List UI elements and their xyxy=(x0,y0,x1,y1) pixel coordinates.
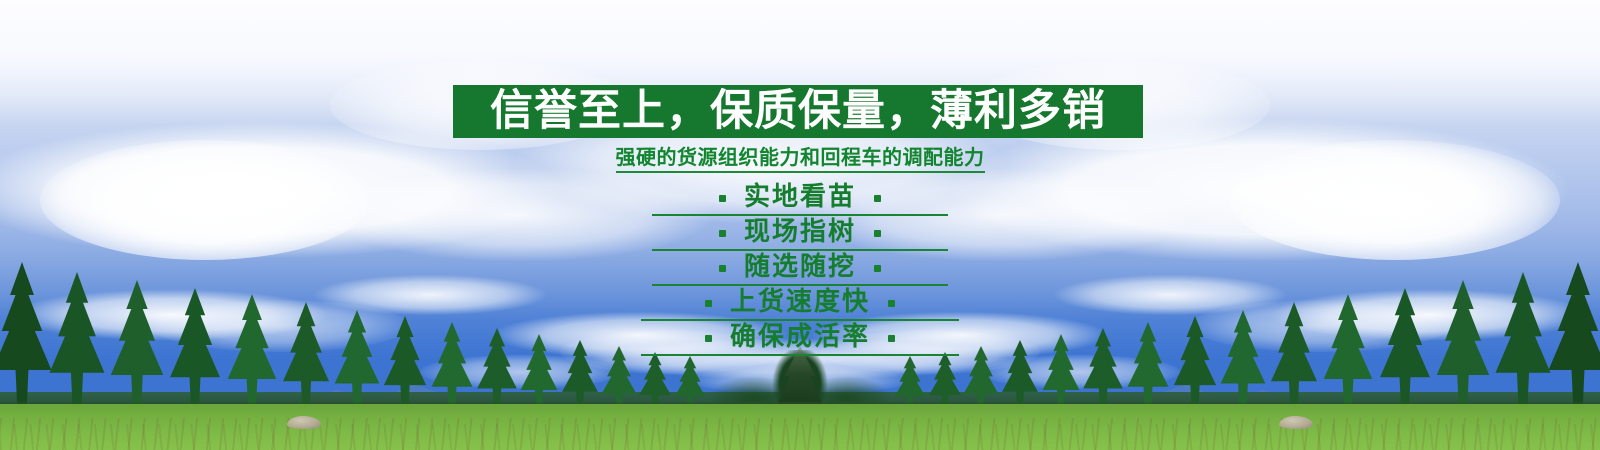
dot-bullet-icon xyxy=(705,335,712,342)
feature-label: 实地看苗 xyxy=(744,184,856,210)
feature-item: 确保成活率 xyxy=(0,321,1600,356)
feature-item: 实地看苗 xyxy=(0,181,1600,216)
dot-bullet-icon xyxy=(874,195,881,202)
banner-content: 信誉至上，保质保量，薄利多销 强硬的货源组织能力和回程车的调配能力 实地看苗 现… xyxy=(0,0,1600,450)
feature-label: 确保成活率 xyxy=(730,324,870,350)
headline-bar: 信誉至上，保质保量，薄利多销 xyxy=(453,85,1143,138)
feature-list: 实地看苗 现场指树 随选随挖 xyxy=(0,181,1600,356)
feature-label: 现场指树 xyxy=(744,219,856,245)
feature-label: 随选随挖 xyxy=(744,254,856,280)
dot-bullet-icon xyxy=(888,300,895,307)
dot-bullet-icon xyxy=(705,300,712,307)
subheadline-text: 强硬的货源组织能力和回程车的调配能力 xyxy=(616,146,985,173)
feature-item: 随选随挖 xyxy=(0,251,1600,286)
dot-bullet-icon xyxy=(874,230,881,237)
promo-banner: 信誉至上，保质保量，薄利多销 强硬的货源组织能力和回程车的调配能力 实地看苗 现… xyxy=(0,0,1600,450)
dot-bullet-icon xyxy=(719,265,726,272)
headline-text: 信誉至上，保质保量，薄利多销 xyxy=(490,90,1106,133)
feature-item: 上货速度快 xyxy=(0,286,1600,321)
dot-bullet-icon xyxy=(888,335,895,342)
subheadline: 强硬的货源组织能力和回程车的调配能力 xyxy=(0,146,1600,173)
dot-bullet-icon xyxy=(874,265,881,272)
feature-item: 现场指树 xyxy=(0,216,1600,251)
feature-label: 上货速度快 xyxy=(730,289,870,315)
dot-bullet-icon xyxy=(719,195,726,202)
dot-bullet-icon xyxy=(719,230,726,237)
